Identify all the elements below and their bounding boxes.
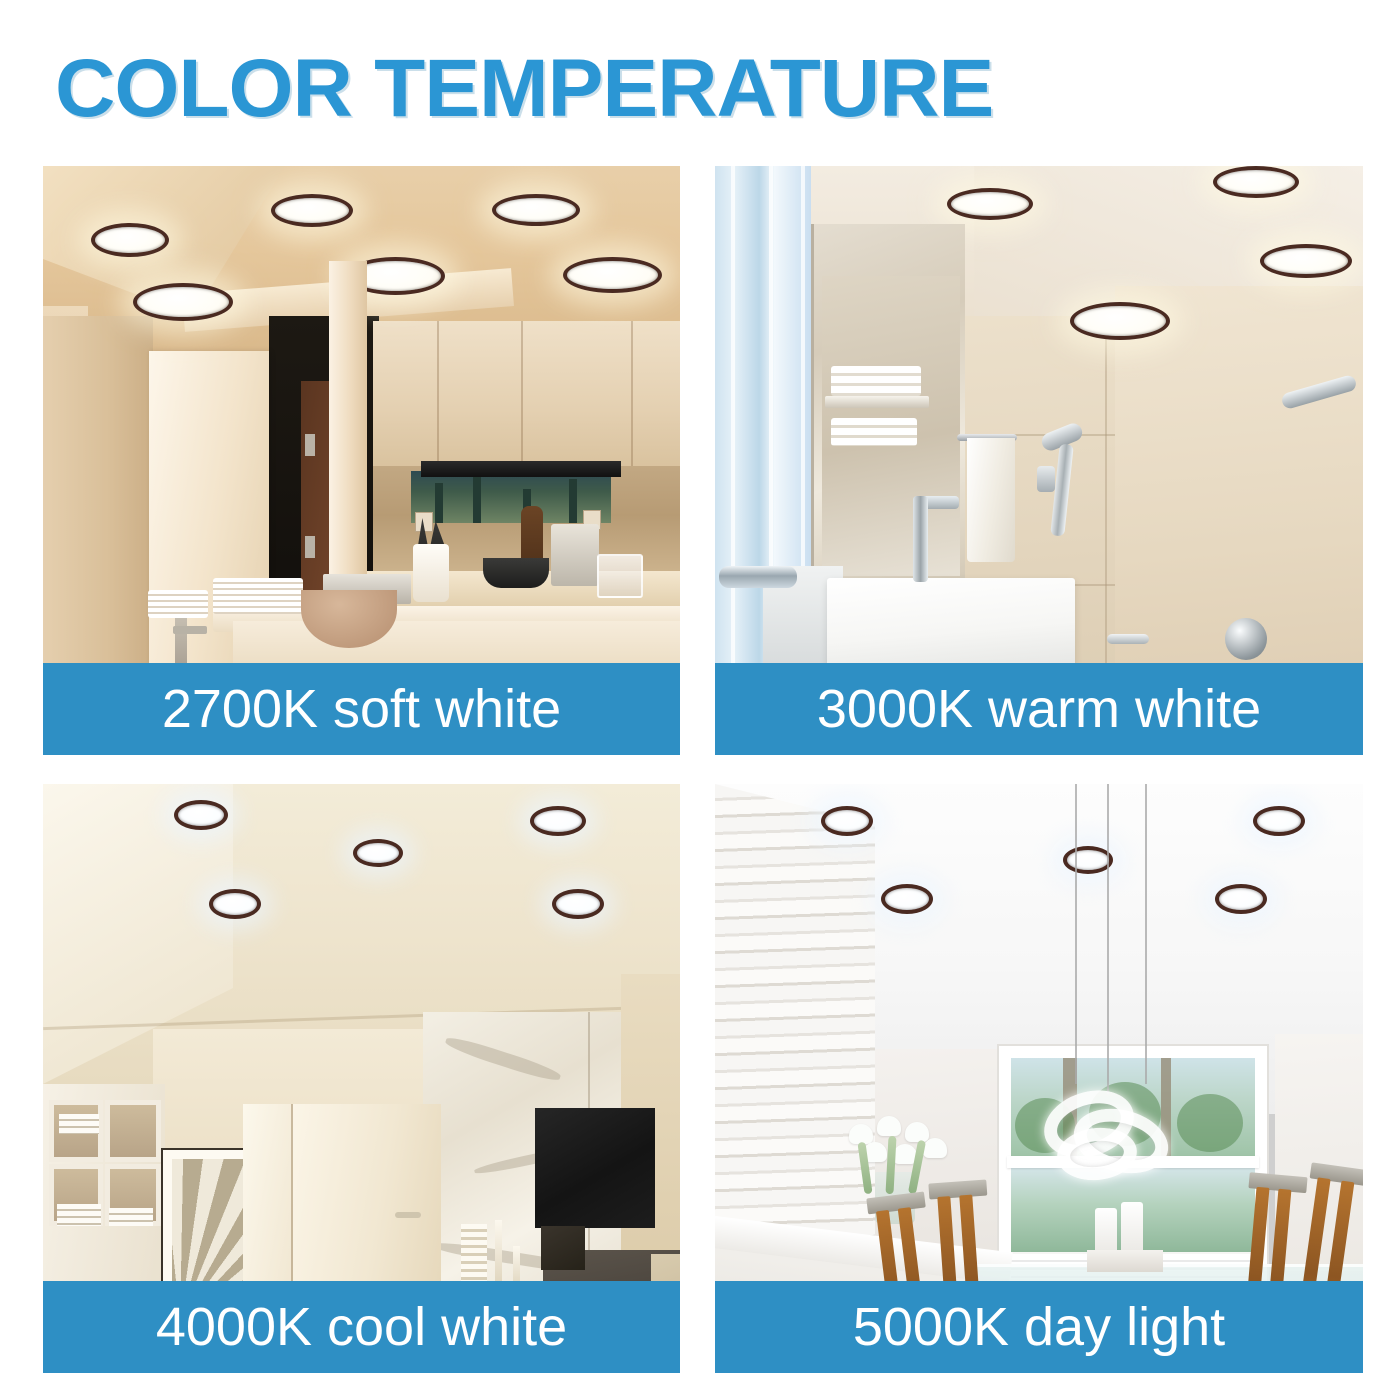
downlight-fixture xyxy=(133,283,233,321)
folded-towels xyxy=(831,418,917,446)
downlight-fixture xyxy=(552,889,604,919)
downlight-fixture xyxy=(821,806,873,836)
sofa-pillow xyxy=(541,1226,585,1270)
downlight-fixture xyxy=(91,223,169,257)
downlight-fixture xyxy=(271,194,353,227)
crystal-pendant-light xyxy=(1033,1084,1183,1194)
kitchen-range-hood xyxy=(421,461,621,477)
panel-4000k: 4000K cool white xyxy=(43,784,680,1373)
shower-valve xyxy=(1225,618,1267,660)
caption-3000k: 3000K warm white xyxy=(715,663,1363,755)
folded-towels xyxy=(831,366,921,396)
book-stack xyxy=(59,1114,99,1134)
panel-2700k: 2700K soft white xyxy=(43,166,680,755)
living-door-handle xyxy=(395,1212,421,1218)
downlight-fixture xyxy=(174,800,228,830)
tulip-bouquet xyxy=(839,1114,957,1192)
coffee-machine xyxy=(551,524,599,586)
faucet xyxy=(913,496,928,582)
caption-2700k: 2700K soft white xyxy=(43,663,680,755)
pendant-wire xyxy=(1107,784,1109,1094)
downlight-fixture xyxy=(1260,244,1352,278)
door-hinge xyxy=(305,536,315,558)
towel-shelf xyxy=(825,396,929,408)
downlight-fixture xyxy=(209,889,261,919)
bathroom-mirror-cabinet xyxy=(811,224,965,604)
downlight-fixture xyxy=(1215,884,1267,914)
table-centerpiece xyxy=(1087,1202,1163,1272)
page-title: COLOR TEMPERATURE xyxy=(55,48,993,130)
pendant-wire xyxy=(1145,784,1147,1084)
downlight-fixture xyxy=(1070,302,1170,340)
utensil-jug xyxy=(413,544,449,602)
shelf-cubby xyxy=(105,1100,161,1162)
downlight-fixture xyxy=(947,188,1033,220)
caption-5000k: 5000K day light xyxy=(715,1281,1363,1373)
downlight-fixture xyxy=(353,839,403,867)
plate-stack xyxy=(213,578,303,614)
door-hinge xyxy=(305,434,315,456)
pendant-wire xyxy=(1075,784,1077,1084)
grab-bar xyxy=(1107,634,1149,644)
downlight-fixture xyxy=(1253,806,1305,836)
downlight-fixture xyxy=(563,257,662,293)
panel-5000k: 5000K day light xyxy=(715,784,1363,1373)
frying-pan xyxy=(483,558,549,588)
infographic-root: COLOR TEMPERATURE xyxy=(0,0,1400,1400)
kitchen-upper-cabinets xyxy=(373,321,680,469)
shower-door-handle xyxy=(719,566,797,588)
panel-3000k: 3000K warm white xyxy=(715,166,1363,755)
door-handle xyxy=(173,626,207,634)
downlight-fixture xyxy=(1213,166,1299,198)
hanging-towel xyxy=(967,438,1015,562)
glass-container xyxy=(597,554,643,598)
book-stack xyxy=(109,1208,153,1226)
caption-4000k: 4000K cool white xyxy=(43,1281,680,1373)
kitchen-window xyxy=(411,471,611,523)
wall-mounted-tv xyxy=(535,1108,655,1228)
book-stack xyxy=(57,1204,101,1226)
downlight-fixture xyxy=(1063,846,1113,874)
shower-holder xyxy=(1037,466,1055,492)
plate-stack xyxy=(148,590,208,618)
downlight-fixture xyxy=(530,806,586,836)
downlight-fixture xyxy=(881,884,933,914)
candle xyxy=(495,1220,502,1288)
downlight-fixture xyxy=(492,194,580,226)
